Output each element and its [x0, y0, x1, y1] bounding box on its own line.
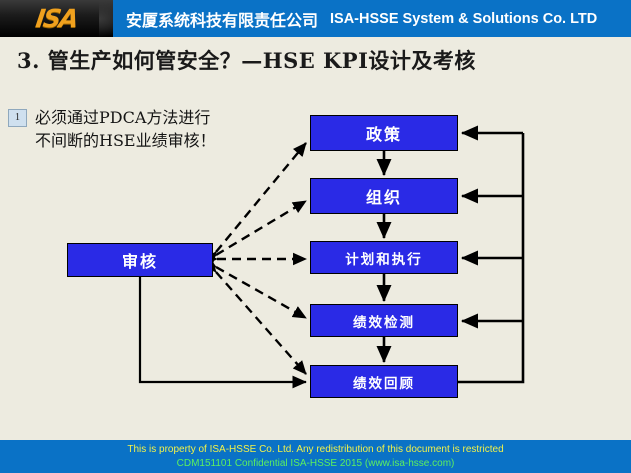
- page-header: ISA 安厦系统科技有限责任公司 ISA-HSSE System & Solut…: [0, 0, 631, 37]
- flow-node-policy[interactable]: 政策: [310, 115, 458, 151]
- note-text: 必须通过PDCA方法进行 不间断的HSE业绩审核！: [35, 106, 285, 152]
- isa-logo-icon: ISA: [34, 4, 79, 33]
- flow-node-measure[interactable]: 绩效检测: [310, 304, 458, 337]
- flow-node-audit[interactable]: 审核: [67, 243, 213, 277]
- note-text-line2: 不间断的HSE业绩审核！: [35, 129, 285, 152]
- company-name-cn: 安厦系统科技有限责任公司: [126, 7, 318, 31]
- note-text-line1: 必须通过PDCA方法进行: [35, 106, 285, 129]
- slide-title: 3. 管生产如何管安全？—HSE KPI设计及考核: [17, 45, 476, 75]
- header-title-band: 安厦系统科技有限责任公司 ISA-HSSE System & Solutions…: [113, 0, 631, 37]
- footer-copyright-line: This is property of ISA-HSSE Co. Ltd. An…: [127, 443, 503, 457]
- company-name-en: ISA-HSSE System & Solutions Co. LTD: [330, 11, 597, 27]
- footer-document-line: CDM151101 Confidential ISA-HSSE 2015 (ww…: [177, 457, 455, 471]
- page-footer: This is property of ISA-HSSE Co. Ltd. An…: [0, 440, 631, 473]
- logo-plate: ISA: [0, 0, 113, 37]
- flow-node-review[interactable]: 绩效回顾: [310, 365, 458, 398]
- note-number-badge: 1: [8, 109, 27, 127]
- flow-node-plan[interactable]: 计划和执行: [310, 241, 458, 274]
- flow-node-organization[interactable]: 组织: [310, 178, 458, 214]
